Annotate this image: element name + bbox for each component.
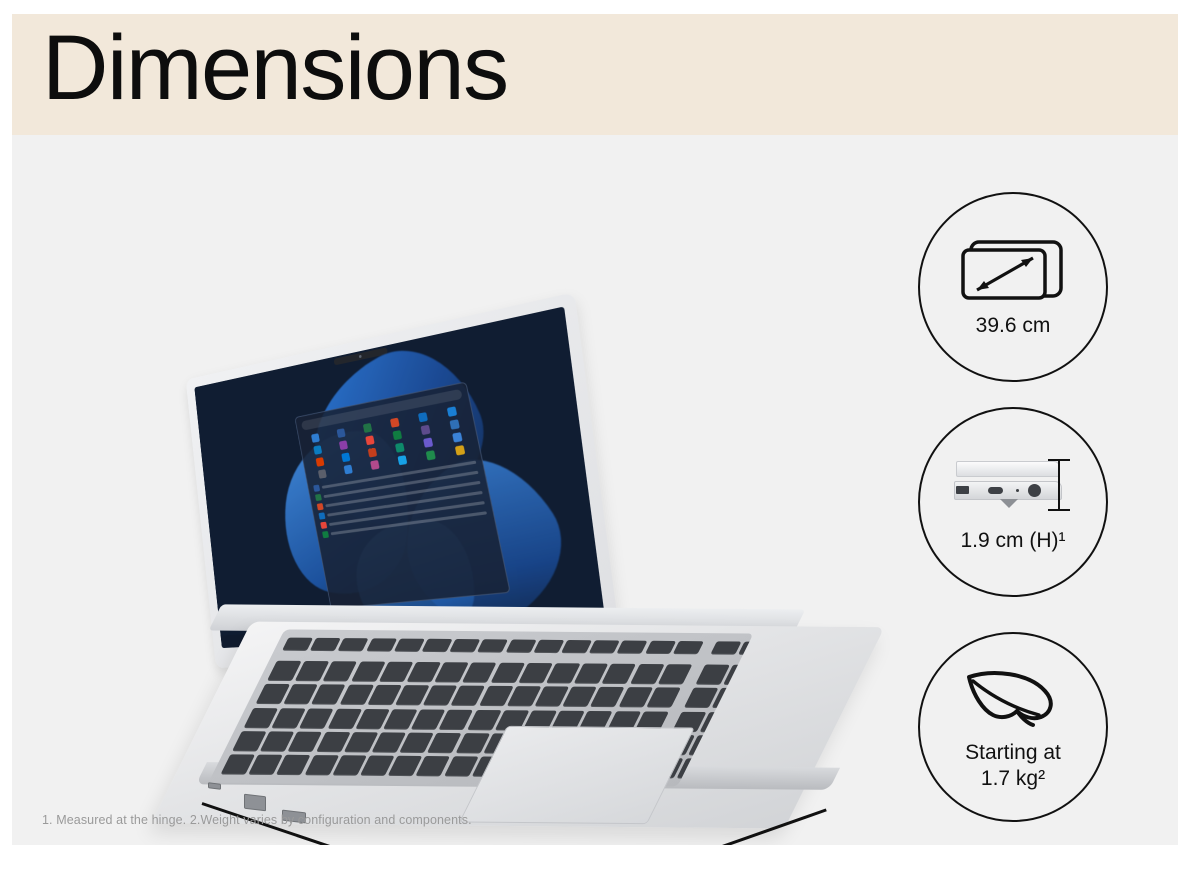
start-menu-app-icon xyxy=(370,460,380,470)
keyboard-key xyxy=(282,638,313,651)
start-menu-app-icon xyxy=(344,465,353,475)
recommended-item-icon xyxy=(315,494,322,501)
recommended-item-icon xyxy=(317,503,324,510)
start-menu-app-icon xyxy=(366,436,376,446)
badge-height-label: 1.9 cm (H)¹ xyxy=(961,528,1066,554)
start-menu-app-icon xyxy=(316,457,325,467)
recommended-item-icon xyxy=(319,513,326,520)
infographic-page: Dimensions xyxy=(0,0,1190,883)
badge-weight-label: Starting at 1.7 kg² xyxy=(965,740,1061,791)
footnote-text: 1. Measured at the hinge. 2.Weight varie… xyxy=(42,813,472,827)
keyboard-key xyxy=(449,639,480,652)
start-menu-app-icon xyxy=(339,441,348,451)
badge-weight: Starting at 1.7 kg² xyxy=(918,632,1108,822)
ethernet-port-icon xyxy=(244,794,266,812)
keyboard-key xyxy=(505,640,536,653)
start-menu-app-icon xyxy=(342,453,351,463)
content-panel: Dimensions xyxy=(12,14,1178,845)
start-menu-app-icon xyxy=(398,456,408,466)
side-profile-foot xyxy=(1000,499,1018,508)
start-menu-app-icon xyxy=(390,418,400,428)
keyboard-key xyxy=(533,640,564,653)
start-menu-app-icon xyxy=(319,469,328,479)
side-profile-lid xyxy=(956,461,1060,477)
start-menu-app-icon xyxy=(337,429,346,439)
start-menu-app-icon xyxy=(368,448,378,458)
start-menu-app-icon xyxy=(395,443,405,453)
badge-height: 1.9 cm (H)¹ xyxy=(918,407,1108,597)
start-menu-app-icon xyxy=(447,407,457,418)
keyboard-key xyxy=(394,639,425,652)
keyboard-key xyxy=(338,638,369,651)
start-menu-app-icon xyxy=(449,420,459,431)
recommended-item-icon xyxy=(313,485,320,492)
keyboard-key xyxy=(477,639,508,652)
start-menu-app-icon xyxy=(393,430,403,440)
recommended-item-icon xyxy=(321,522,328,529)
usb-c-port-icon xyxy=(988,487,1003,494)
start-menu-app-icon xyxy=(455,446,466,456)
start-menu-app-icon xyxy=(421,425,431,435)
start-menu-app-icon xyxy=(363,423,372,433)
spec-badge-group: 39.6 cm 1.9 cm (H)¹ xyxy=(892,174,1162,834)
keyboard-key xyxy=(366,638,397,651)
header-band: Dimensions xyxy=(12,14,1178,135)
keyboard-key xyxy=(561,640,592,653)
badge-display-diagonal-label: 39.6 cm xyxy=(976,313,1051,339)
height-gauge-icon xyxy=(1048,459,1070,511)
start-menu-app-icon xyxy=(452,433,462,443)
page-title: Dimensions xyxy=(42,20,508,117)
start-menu-app-icon xyxy=(312,434,321,444)
keyboard-key xyxy=(617,641,648,654)
laptop-device: hp xyxy=(152,295,872,845)
keyboard-key xyxy=(310,638,341,651)
keyboard-key xyxy=(589,640,620,653)
laptop-screen xyxy=(194,306,606,648)
usb-a-port-icon xyxy=(956,486,969,494)
recommended-item-icon xyxy=(322,531,329,538)
display-diagonal-icon xyxy=(954,235,1072,307)
start-menu-app-icon xyxy=(423,438,433,448)
keyboard-key xyxy=(673,641,704,654)
keyboard-key xyxy=(421,639,452,652)
numpad-key xyxy=(710,641,741,654)
keyboard-key xyxy=(645,641,676,654)
start-menu-app-icon xyxy=(314,445,323,455)
laptop-illustration: hp 23.3 cm (D) 35.9 cm (W) xyxy=(12,135,882,835)
feather-icon xyxy=(954,662,1072,734)
side-profile-base xyxy=(954,481,1062,500)
laptop-side-profile-icon xyxy=(954,450,1072,522)
badge-display-diagonal: 39.6 cm xyxy=(918,192,1108,382)
start-menu-app-icon xyxy=(426,451,436,461)
start-menu-app-icon xyxy=(418,413,428,423)
